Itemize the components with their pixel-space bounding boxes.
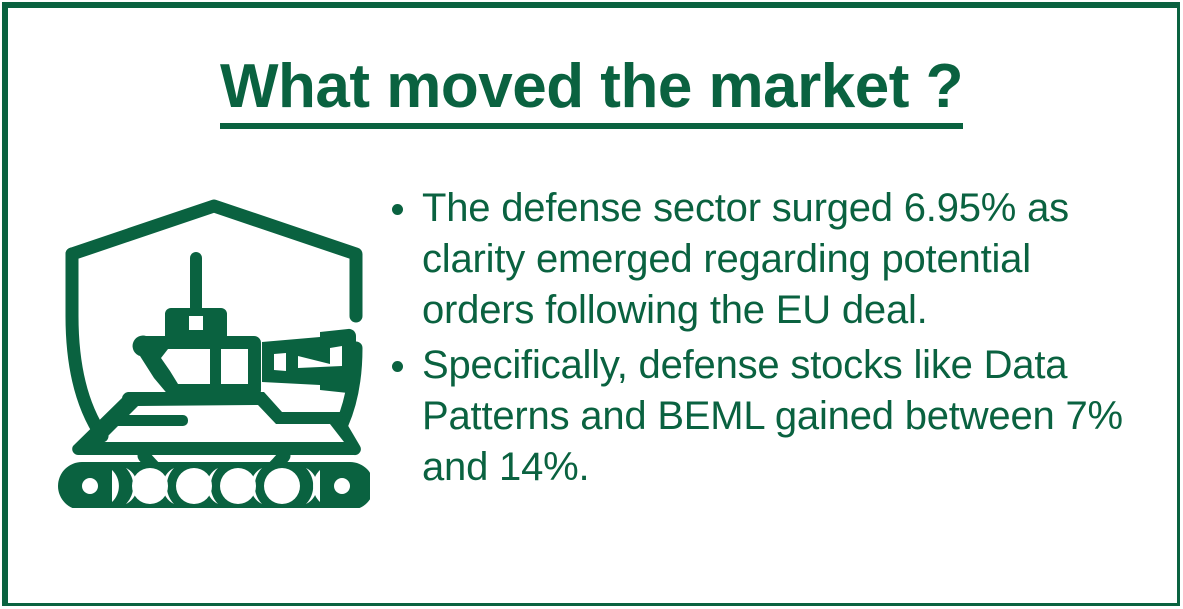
bullet-list: The defense sector surged 6.95% as clari… xyxy=(386,183,1146,497)
road-wheel-4 xyxy=(264,468,300,504)
tank-antenna-base xyxy=(165,308,227,336)
bullet-dot-icon xyxy=(392,204,403,215)
page-title: What moved the market ? xyxy=(220,54,963,129)
tank-turret xyxy=(133,336,261,397)
road-wheel-3 xyxy=(220,468,256,504)
shield-tank-icon xyxy=(58,196,370,508)
bullet-text: Specifically, defense stocks like Data P… xyxy=(422,340,1146,493)
shield-outline-left xyxy=(72,254,102,436)
tank-turret-divider xyxy=(210,339,221,394)
slide-canvas: What moved the market ? xyxy=(0,0,1183,609)
track-pin-right xyxy=(334,478,350,494)
bullet-dot-icon xyxy=(392,361,403,372)
tank-hull-detail-line xyxy=(106,415,188,426)
tank-antenna xyxy=(190,252,202,314)
road-wheel-2 xyxy=(176,468,212,504)
tank-group xyxy=(58,252,370,508)
tank-gun-barrel xyxy=(262,329,356,393)
bullet-text: The defense sector surged 6.95% as clari… xyxy=(422,183,1146,336)
road-wheel-1 xyxy=(132,468,168,504)
page-title-container: What moved the market ? xyxy=(0,54,1183,129)
list-item: Specifically, defense stocks like Data P… xyxy=(386,340,1146,493)
list-item: The defense sector surged 6.95% as clari… xyxy=(386,183,1146,336)
track-pin-left xyxy=(82,478,98,494)
shield-tank-icon-svg xyxy=(58,196,370,508)
